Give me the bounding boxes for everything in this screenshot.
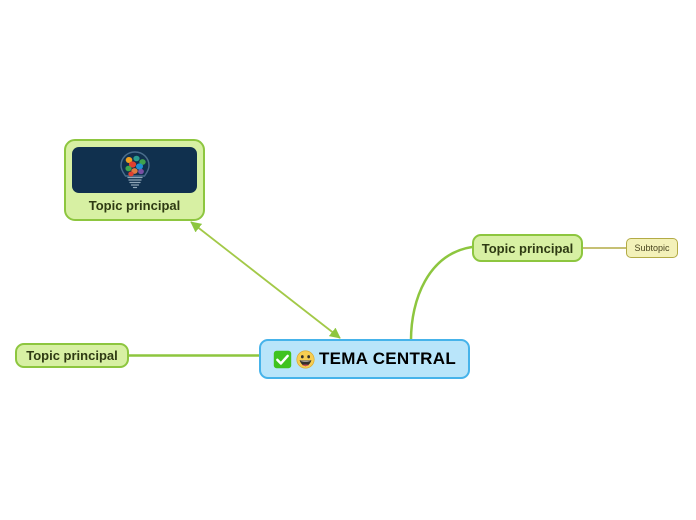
node-label: Topic principal [482,242,574,255]
node-subtopic[interactable]: Subtopic [626,238,678,258]
node-image-panel [72,147,197,193]
node-label: Topic principal [26,349,118,362]
node-topic-principal-left[interactable]: Topic principal [15,343,129,368]
node-topic-principal-right[interactable]: Topic principal [472,234,583,262]
connector-central-to-topic-right [411,247,472,340]
central-node-label: TEMA CENTRAL [319,349,456,369]
node-tema-central[interactable]: TEMA CENTRAL [259,339,470,379]
connector-central-to-topic-image [191,222,340,338]
grinning-face-emoji [296,350,315,369]
node-label: Subtopic [634,243,669,253]
mindmap-canvas: Topic principal Topic principal Topic pr… [0,0,696,520]
check-mark-button-emoji [273,350,292,369]
colorful-lightbulb-icon [118,150,152,190]
node-label: Topic principal [89,199,181,212]
node-topic-principal-image[interactable]: Topic principal [64,139,205,221]
connector-layer [0,0,696,520]
